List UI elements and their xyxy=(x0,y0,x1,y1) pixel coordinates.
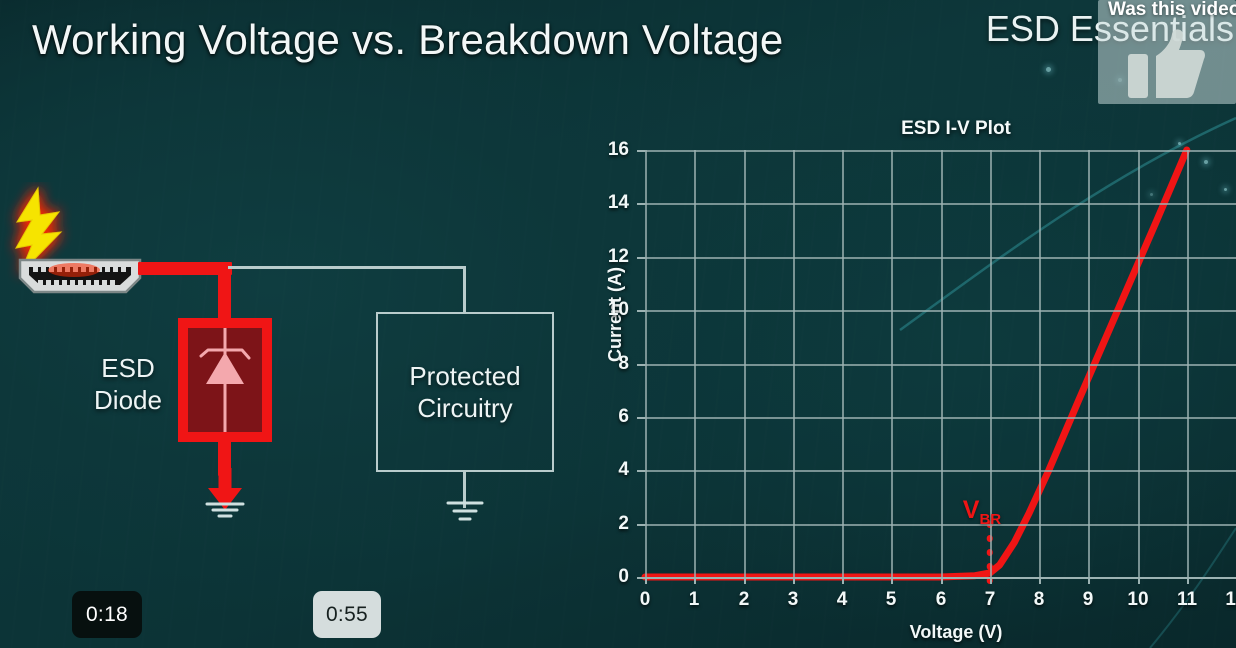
grid-line-horizontal xyxy=(645,203,1236,205)
x-axis-tick-label: 9 xyxy=(1068,589,1108,611)
x-axis-title: Voltage (V) xyxy=(856,622,1056,643)
wire-signal-path xyxy=(228,266,466,269)
y-axis-tick-label: 12 xyxy=(589,246,629,268)
y-axis-tick-label: 16 xyxy=(589,139,629,161)
x-axis-tick-label: 6 xyxy=(921,589,961,611)
protected-label-line2: Circuitry xyxy=(409,392,520,424)
y-axis-tick xyxy=(637,417,645,419)
y-axis-tick xyxy=(637,257,645,259)
esd-diode-component xyxy=(178,318,272,442)
x-axis-tick-label: 12 xyxy=(1216,589,1236,611)
y-axis-tick xyxy=(637,150,645,152)
grid-line-horizontal xyxy=(645,310,1236,312)
page-title: Working Voltage vs. Breakdown Voltage xyxy=(32,16,783,64)
y-axis-tick-label: 8 xyxy=(589,353,629,375)
x-axis-tick-label: 2 xyxy=(724,589,764,611)
y-axis-tick-label: 10 xyxy=(589,299,629,321)
grid-line-horizontal xyxy=(645,524,1236,526)
x-axis-tick-label: 1 xyxy=(674,589,714,611)
plot-area: 01234567891011120246810121416VBR xyxy=(645,150,1236,577)
x-axis-tick-label: 10 xyxy=(1118,589,1158,611)
current-time-label: 0:18 xyxy=(86,603,128,627)
y-axis-tick xyxy=(637,524,645,526)
y-axis-tick xyxy=(637,364,645,366)
grid-line-horizontal xyxy=(645,470,1236,472)
y-axis-tick-label: 2 xyxy=(589,513,629,535)
wire-signal-path xyxy=(463,266,466,314)
x-axis-tick-label: 7 xyxy=(970,589,1010,611)
x-axis-tick-label: 4 xyxy=(822,589,862,611)
hdmi-connector-icon xyxy=(14,256,146,296)
protected-circuitry-label: Protected Circuitry xyxy=(409,360,520,424)
grid-line-horizontal xyxy=(645,257,1236,259)
y-axis-line xyxy=(645,150,647,577)
circuit-diagram: ESD Diode Protected Circuitry xyxy=(0,160,600,560)
grid-line-horizontal xyxy=(645,150,1236,152)
grid-line-horizontal xyxy=(645,417,1236,419)
survey-prompt: Was this video xyxy=(1108,0,1236,21)
y-axis-tick xyxy=(637,470,645,472)
x-axis-tick-label: 0 xyxy=(625,589,665,611)
x-axis-line xyxy=(645,577,1236,579)
y-axis-tick-label: 14 xyxy=(589,192,629,214)
vbr-symbol: V xyxy=(963,496,980,524)
x-axis-tick-label: 8 xyxy=(1019,589,1059,611)
protected-circuitry-block: Protected Circuitry xyxy=(376,312,554,472)
esd-diode-label: ESD Diode xyxy=(84,352,172,416)
vbr-subscript: BR xyxy=(979,511,1001,528)
wire-esd-path xyxy=(218,262,231,324)
current-time-badge[interactable]: 0:18 xyxy=(72,591,142,638)
breakdown-voltage-label: VBR xyxy=(963,496,1001,528)
zener-diode-icon xyxy=(188,328,262,432)
protected-label-line1: Protected xyxy=(409,360,520,392)
ground-icon xyxy=(446,498,484,524)
y-axis-tick xyxy=(637,203,645,205)
grid-line-horizontal xyxy=(645,364,1236,366)
thumbs-up-icon[interactable] xyxy=(1128,28,1206,100)
video-frame: Working Voltage vs. Breakdown Voltage ES… xyxy=(0,0,1236,648)
x-axis-tick-label: 5 xyxy=(871,589,911,611)
chart-title: ESD I-V Plot xyxy=(846,118,1066,140)
total-time-badge[interactable]: 0:55 xyxy=(313,591,381,638)
y-axis-tick-label: 4 xyxy=(589,459,629,481)
total-time-label: 0:55 xyxy=(326,603,368,627)
iv-plot: ESD I-V Plot Current (A) Voltage (V) 012… xyxy=(576,108,1236,648)
x-axis-tick-label: 11 xyxy=(1167,589,1207,611)
y-axis-tick xyxy=(637,310,645,312)
y-axis-tick-label: 6 xyxy=(589,406,629,428)
ground-icon xyxy=(200,468,250,520)
esd-diode-label-line1: ESD xyxy=(84,352,172,384)
x-axis-tick-label: 3 xyxy=(773,589,813,611)
y-axis-tick-label: 0 xyxy=(589,566,629,588)
esd-diode-label-line2: Diode xyxy=(84,384,172,416)
y-axis-tick xyxy=(637,577,645,579)
